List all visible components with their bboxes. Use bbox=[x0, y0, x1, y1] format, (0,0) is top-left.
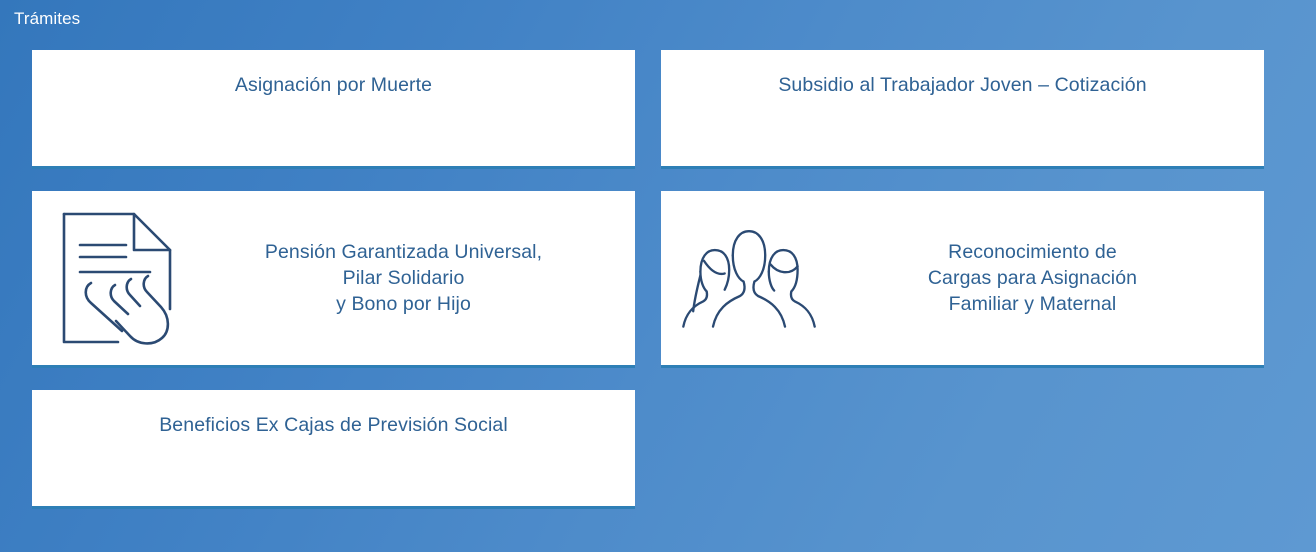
tramite-card-pension-garantizada-universal[interactable]: Pensión Garantizada Universal, Pilar Sol… bbox=[32, 191, 635, 368]
tramite-card-asignacion-por-muerte[interactable]: Asignación por Muerte bbox=[32, 50, 635, 169]
page-title: Trámites bbox=[14, 7, 80, 31]
tramite-card-label: Pensión Garantizada Universal, Pilar Sol… bbox=[192, 239, 635, 317]
tramite-card-label: Subsidio al Trabajador Joven – Cotizació… bbox=[661, 50, 1264, 98]
tramite-card-label: Reconocimiento de Cargas para Asignación… bbox=[821, 239, 1264, 317]
family-group-icon bbox=[661, 219, 821, 337]
document-hand-icon bbox=[32, 209, 192, 347]
tramite-card-subsidio-trabajador-joven[interactable]: Subsidio al Trabajador Joven – Cotizació… bbox=[661, 50, 1264, 169]
tramite-card-label: Asignación por Muerte bbox=[32, 50, 635, 98]
tramite-card-beneficios-ex-cajas[interactable]: Beneficios Ex Cajas de Previsión Social bbox=[32, 390, 635, 509]
tramite-card-label: Beneficios Ex Cajas de Previsión Social bbox=[32, 390, 635, 438]
tramites-card-grid: Asignación por Muerte Subsidio al Trabaj… bbox=[32, 50, 1272, 509]
grid-empty-cell bbox=[661, 390, 1264, 509]
tramite-card-reconocimiento-cargas[interactable]: Reconocimiento de Cargas para Asignación… bbox=[661, 191, 1264, 368]
